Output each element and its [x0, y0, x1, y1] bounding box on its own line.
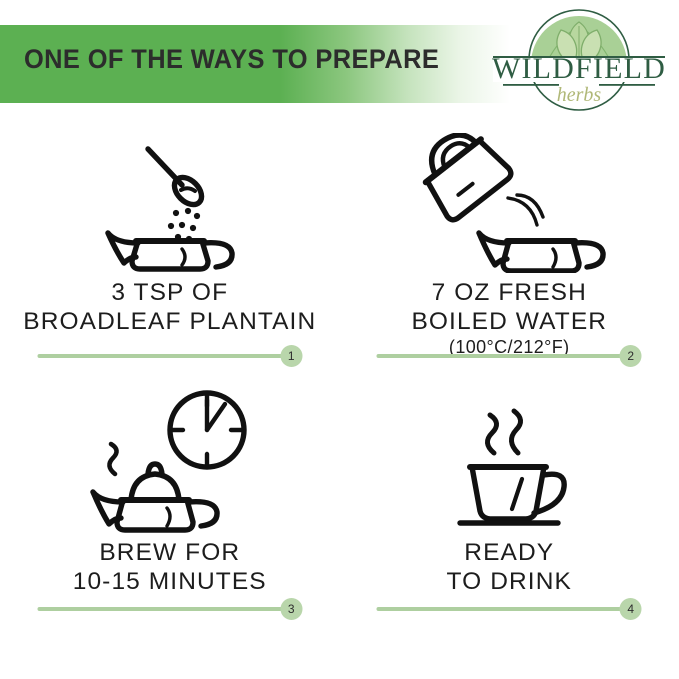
logo-mark-icon: WILDFIELD herbs [487, 4, 671, 116]
header: ONE OF THE WAYS TO PREPARE [0, 0, 679, 125]
step-3-progress-line [37, 607, 282, 611]
page-title: ONE OF THE WAYS TO PREPARE [24, 44, 439, 75]
step-3-badge: 3 [280, 598, 302, 620]
step-2-badge: 2 [620, 345, 642, 367]
clock-icon [170, 393, 244, 467]
steaming-cup-icon [434, 383, 584, 533]
step-1-progress-line [37, 354, 282, 358]
step-3-line2: 10-15 MINUTES [73, 568, 267, 597]
step-4-label: READY TO DRINK [447, 539, 572, 596]
step-4-progress: 4 [377, 598, 642, 620]
kettle-pouring-into-teapot-icon [409, 128, 609, 273]
step-3-progress: 3 [37, 598, 302, 620]
step-3-line1: BREW FOR [73, 539, 267, 568]
step-4-badge: 4 [620, 598, 642, 620]
step-2-progress: 2 [377, 345, 642, 367]
step-4-progress-line [377, 607, 622, 611]
preparation-infographic: ONE OF THE WAYS TO PREPARE [0, 0, 679, 679]
step-3-label: BREW FOR 10-15 MINUTES [73, 539, 267, 596]
step-1-progress: 1 [37, 345, 302, 367]
steps-grid: 3 TSP OF BROADLEAF PLANTAIN 1 [0, 128, 679, 638]
step-4: READY TO DRINK 4 [340, 383, 679, 638]
step-1-label: 3 TSP OF BROADLEAF PLANTAIN [23, 279, 316, 336]
teapot-with-spoon-icon [90, 128, 250, 273]
step-1-line1: 3 TSP OF [23, 279, 316, 308]
step-2-label: 7 OZ FRESH BOILED WATER [411, 279, 607, 336]
logo-wordmark: WILDFIELD [492, 52, 666, 85]
wildfield-herbs-logo: WILDFIELD herbs WILDFIELD herbs [487, 4, 671, 116]
step-1-badge: 1 [280, 345, 302, 367]
step-2-line1: 7 OZ FRESH [411, 279, 607, 308]
logo-script: herbs [557, 84, 602, 106]
teapot-with-clock-icon [75, 383, 265, 533]
step-3: BREW FOR 10-15 MINUTES 3 [0, 383, 340, 638]
step-2-progress-line [377, 354, 622, 358]
step-4-line1: READY [447, 539, 572, 568]
step-1-line2: BROADLEAF PLANTAIN [23, 308, 316, 337]
step-2-line2: BOILED WATER [411, 308, 607, 337]
step-1: 3 TSP OF BROADLEAF PLANTAIN 1 [0, 128, 340, 383]
step-2: 7 OZ FRESH BOILED WATER (100°C/212°F) 2 [340, 128, 679, 383]
step-4-line2: TO DRINK [447, 568, 572, 597]
